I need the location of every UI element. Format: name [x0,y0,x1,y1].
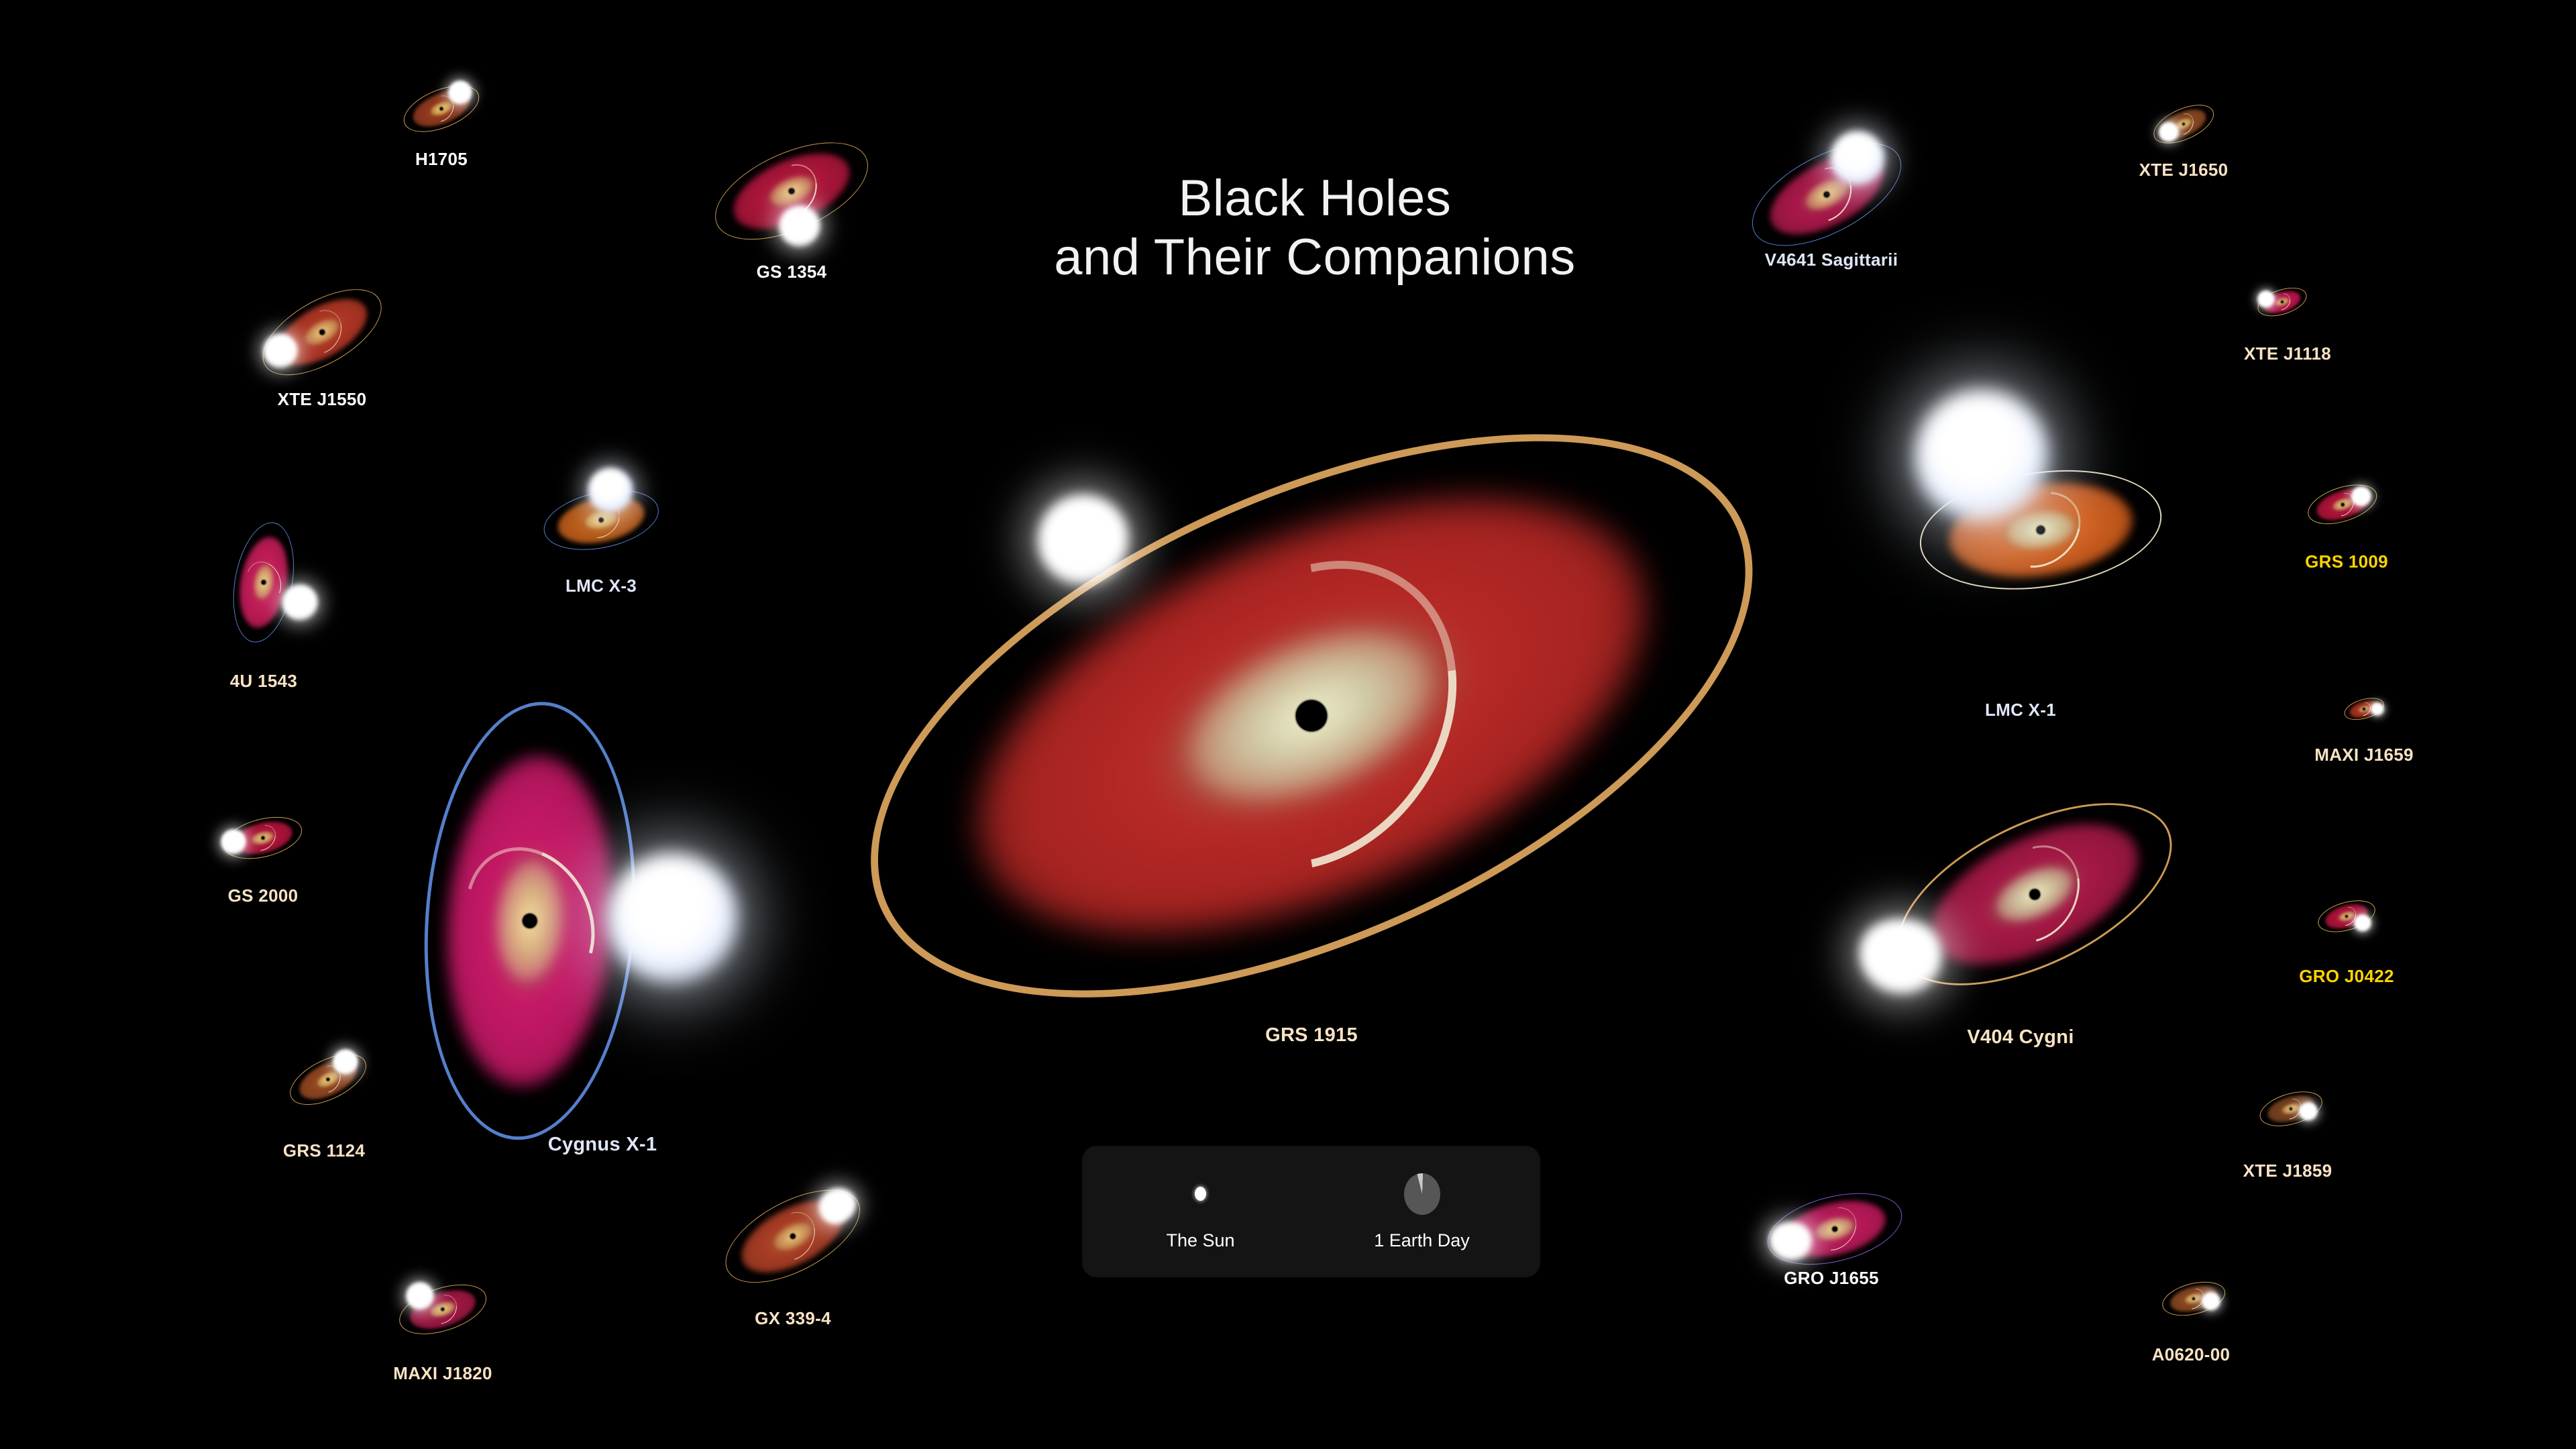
system-label-grs1009[interactable]: GRS 1009 [2305,551,2388,572]
black-hole [262,580,266,584]
system-label-gs2000[interactable]: GS 2000 [228,885,299,906]
black-hole [1833,1227,1837,1232]
companion-star [263,333,298,368]
black-hole [789,189,794,194]
black-hole [2282,301,2284,303]
system-label-v404[interactable]: V404 Cygni [1967,1026,2074,1049]
companion-star [333,1049,358,1075]
legend-panel: The Sun 1 Earth Day [1082,1146,1540,1277]
companion-star [1038,494,1129,586]
companion-star [282,584,318,621]
black-hole [2037,526,2045,534]
companion-star [2257,290,2275,308]
black-hole [2030,890,2040,900]
companion-star [2354,914,2371,932]
black-hole [2363,708,2365,710]
system-label-xtej1650[interactable]: XTE J1650 [2139,160,2229,180]
system-label-v4641[interactable]: V4641 Sagittarii [1765,250,1898,270]
black-hole [1296,700,1327,731]
companion-star [2371,702,2384,716]
system-label-lmcx1[interactable]: LMC X-1 [1985,700,2056,720]
legend-item-earth-day: 1 Earth Day [1365,1173,1479,1251]
visualization-canvas: Black Holes and Their Companions The Sun… [0,0,2576,1449]
black-hole [440,107,443,110]
companion-star [779,205,820,247]
system-label-groj1655[interactable]: GRO J1655 [1784,1268,1878,1289]
companion-star [2351,486,2371,506]
companion-star [2159,122,2179,142]
black-hole [262,837,264,839]
black-hole [599,518,603,522]
black-hole [1824,192,1829,197]
companion-star [2202,1292,2220,1311]
companion-star [1915,389,2049,523]
black-hole [327,1078,329,1081]
system-label-grs1124[interactable]: GRS 1124 [283,1140,365,1161]
legend-label-sun: The Sun [1166,1230,1234,1251]
system-label-maxij1659[interactable]: MAXI J1659 [2314,745,2414,765]
system-label-gx3394[interactable]: GX 339-4 [755,1308,831,1329]
companion-star [588,468,633,513]
system-label-4u1543[interactable]: 4U 1543 [230,671,297,692]
system-label-cygx1[interactable]: Cygnus X-1 [548,1134,657,1156]
system-label-grs1915[interactable]: GRS 1915 [1265,1024,1358,1046]
system-label-maxij1820[interactable]: MAXI J1820 [393,1363,492,1384]
system-label-lmcx3[interactable]: LMC X-3 [566,576,637,596]
system-label-xtej1550[interactable]: XTE J1550 [278,389,367,410]
system-label-xtej1118[interactable]: XTE J1118 [2244,343,2331,364]
system-label-h1705[interactable]: H1705 [415,149,468,170]
sun-dot-icon [1195,1173,1206,1216]
earth-day-pie-icon [1404,1173,1440,1216]
black-hole [320,330,325,335]
system-label-xtej1859[interactable]: XTE J1859 [2243,1161,2332,1181]
page-title: Black Holes and Their Companions [1033,169,1597,287]
legend-label-earth-day: 1 Earth Day [1374,1230,1470,1251]
legend-item-sun: The Sun [1144,1173,1258,1251]
black-hole [2341,503,2344,506]
system-label-gs1354[interactable]: GS 1354 [757,262,827,282]
companion-star [406,1282,434,1310]
companion-star [606,853,738,984]
black-hole [2346,916,2348,918]
system-label-groj0422[interactable]: GRO J0422 [2299,966,2394,987]
companion-star [1830,131,1885,186]
companion-star [2299,1102,2318,1121]
companion-star [448,80,472,105]
companion-star [221,829,246,855]
system-label-a062000[interactable]: A0620-00 [2152,1344,2231,1365]
